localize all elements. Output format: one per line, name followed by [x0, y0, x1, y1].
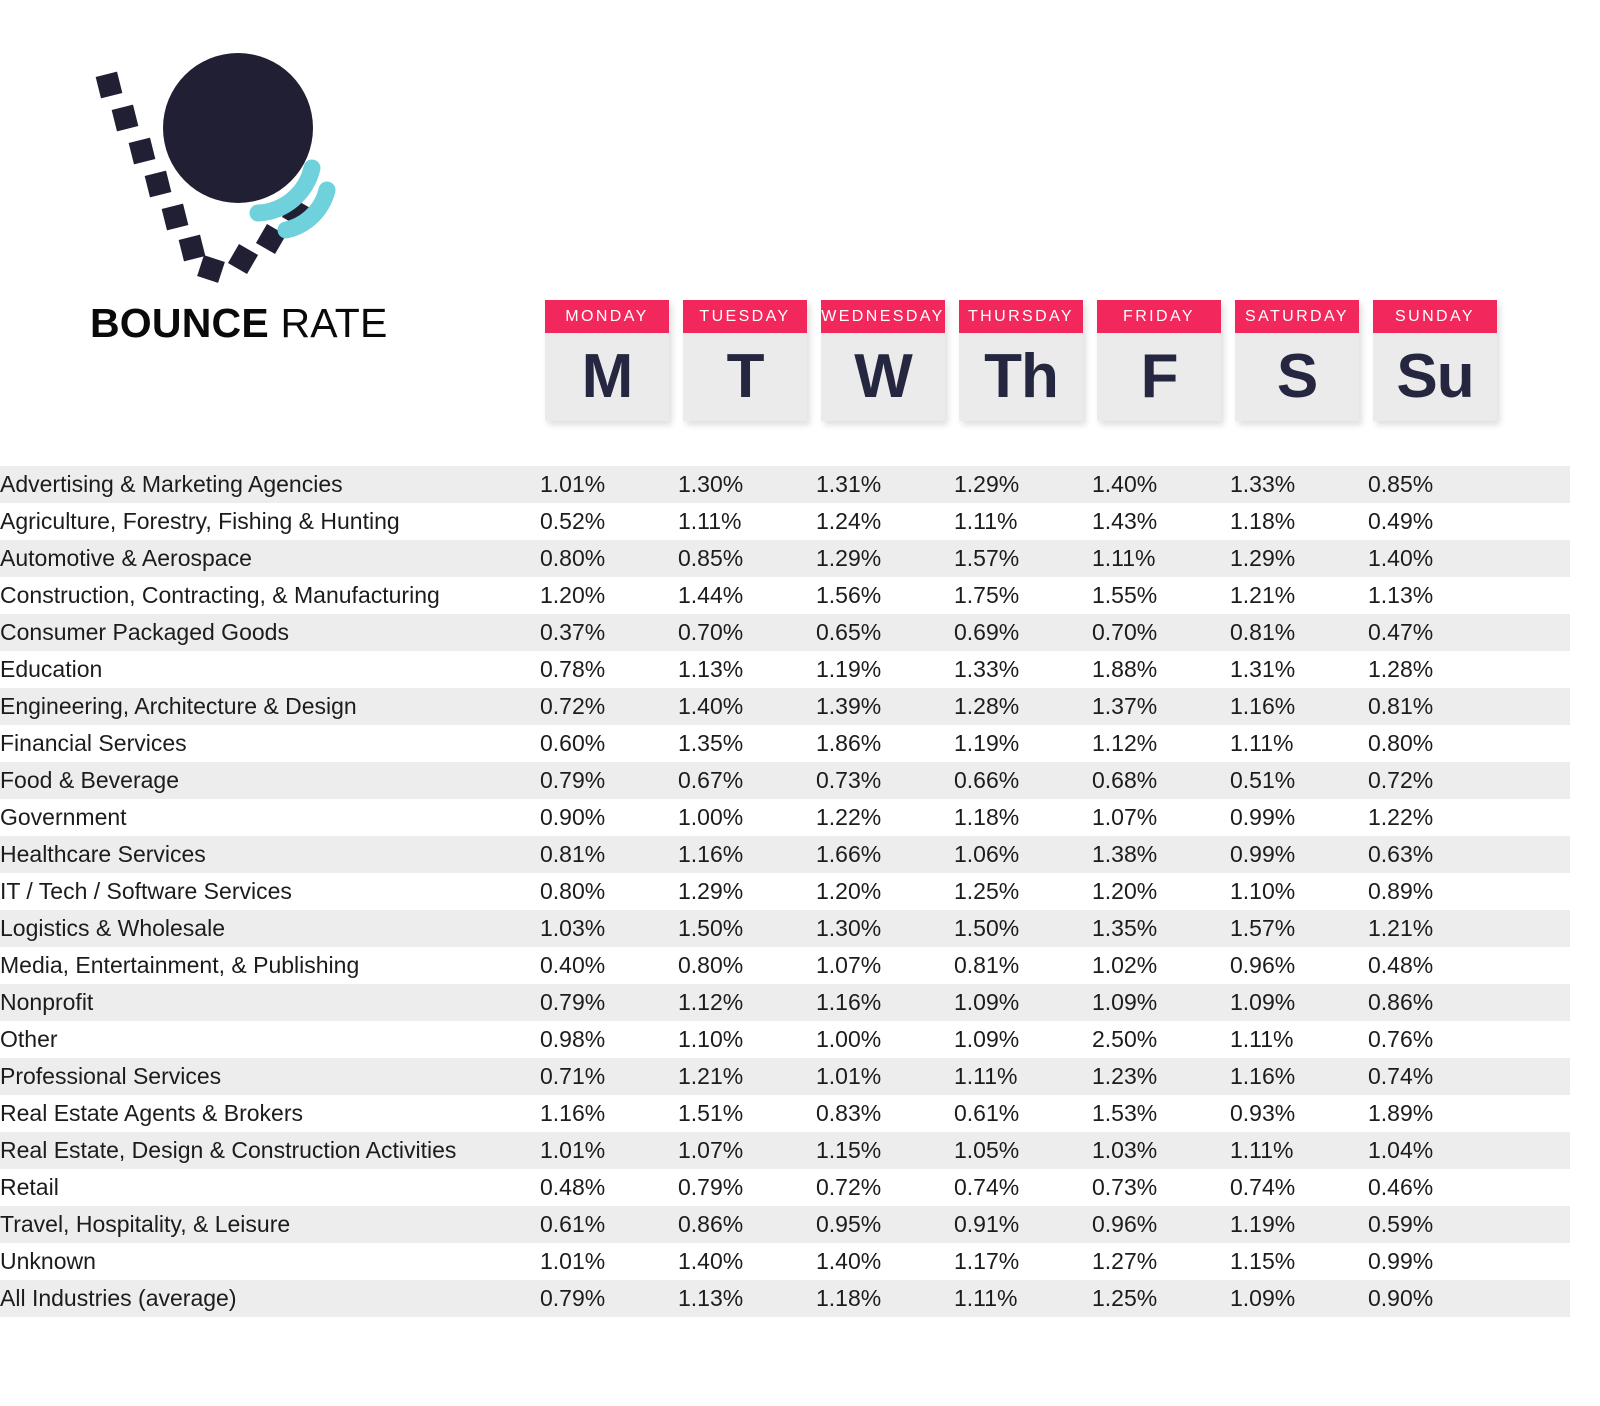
industry-label: Travel, Hospitality, & Leisure	[0, 1206, 540, 1243]
bounce-rate-value: 0.73%	[816, 762, 954, 799]
bounce-rate-value: 0.37%	[540, 614, 678, 651]
bounce-rate-value: 1.29%	[1230, 540, 1368, 577]
bounce-rate-value: 1.03%	[1092, 1132, 1230, 1169]
bounce-rate-value: 1.13%	[678, 1280, 816, 1317]
page-title: BOUNCE RATE	[90, 300, 510, 347]
table-row: Media, Entertainment, & Publishing0.40%0…	[0, 947, 1570, 984]
bounce-rate-value: 0.91%	[954, 1206, 1092, 1243]
industry-label: Engineering, Architecture & Design	[0, 688, 540, 725]
bounce-rate-value: 1.20%	[540, 577, 678, 614]
industry-label: Real Estate Agents & Brokers	[0, 1095, 540, 1132]
row-spacer	[1506, 1021, 1570, 1058]
bounce-rate-value: 0.99%	[1230, 799, 1368, 836]
bounce-rate-value: 1.28%	[1368, 651, 1506, 688]
day-card-short-label: T	[683, 333, 807, 421]
bounce-rate-value: 1.30%	[678, 466, 816, 503]
bounce-rate-value: 0.47%	[1368, 614, 1506, 651]
bounce-rate-value: 0.81%	[1368, 688, 1506, 725]
row-spacer	[1506, 947, 1570, 984]
bounce-rate-value: 0.71%	[540, 1058, 678, 1095]
bounce-rate-value: 1.50%	[954, 910, 1092, 947]
bounce-rate-value: 0.68%	[1092, 762, 1230, 799]
bounce-rate-value: 0.81%	[954, 947, 1092, 984]
bounce-rate-value: 0.95%	[816, 1206, 954, 1243]
bounce-rate-value: 1.11%	[1092, 540, 1230, 577]
bounce-rate-value: 1.21%	[678, 1058, 816, 1095]
bounce-rate-value: 0.83%	[816, 1095, 954, 1132]
bounce-rate-value: 1.03%	[540, 910, 678, 947]
bounce-rate-value: 1.25%	[1092, 1280, 1230, 1317]
day-card-full-label: SUNDAY	[1373, 300, 1497, 333]
bounce-rate-value: 1.13%	[678, 651, 816, 688]
bounce-rate-value: 1.22%	[1368, 799, 1506, 836]
bounce-rate-value: 0.85%	[1368, 466, 1506, 503]
day-card-full-label: MONDAY	[545, 300, 669, 333]
bounce-rate-value: 0.46%	[1368, 1169, 1506, 1206]
bounce-rate-value: 0.99%	[1230, 836, 1368, 873]
bounce-rate-value: 0.79%	[540, 984, 678, 1021]
bounce-rate-value: 1.40%	[678, 1243, 816, 1280]
bounce-rate-value: 1.12%	[678, 984, 816, 1021]
bounce-rate-value: 1.18%	[1230, 503, 1368, 540]
industry-label: Nonprofit	[0, 984, 540, 1021]
table-row: Education0.78%1.13%1.19%1.33%1.88%1.31%1…	[0, 651, 1570, 688]
row-spacer	[1506, 577, 1570, 614]
bounce-rate-value: 0.86%	[678, 1206, 816, 1243]
row-spacer	[1506, 503, 1570, 540]
industry-label: Food & Beverage	[0, 762, 540, 799]
bounce-rate-value: 0.48%	[1368, 947, 1506, 984]
industry-label: Unknown	[0, 1243, 540, 1280]
header-area: BOUNCE RATE MONDAYMTUESDAYTWEDNESDAYWTHU…	[0, 0, 1600, 450]
bounce-rate-value: 0.79%	[540, 1280, 678, 1317]
brand-title-regular: RATE	[280, 300, 387, 346]
bounce-rate-value: 1.31%	[1230, 651, 1368, 688]
bounce-rate-value: 1.29%	[954, 466, 1092, 503]
bounce-rate-value: 1.88%	[1092, 651, 1230, 688]
day-card-short-label: F	[1097, 333, 1221, 421]
bounce-rate-value: 1.11%	[1230, 1021, 1368, 1058]
bounce-rate-value: 0.79%	[540, 762, 678, 799]
industry-label: Media, Entertainment, & Publishing	[0, 947, 540, 984]
row-spacer	[1506, 540, 1570, 577]
bounce-rate-value: 1.09%	[954, 984, 1092, 1021]
row-spacer	[1506, 762, 1570, 799]
bounce-rate-value: 0.48%	[540, 1169, 678, 1206]
bounce-rate-value: 1.07%	[678, 1132, 816, 1169]
day-card-short-label: Su	[1373, 333, 1497, 421]
row-spacer	[1506, 1280, 1570, 1317]
day-card-sunday[interactable]: SUNDAYSu	[1373, 300, 1497, 421]
bounce-rate-value: 1.18%	[954, 799, 1092, 836]
bounce-rate-value: 1.17%	[954, 1243, 1092, 1280]
bounce-rate-value: 1.16%	[678, 836, 816, 873]
row-spacer	[1506, 651, 1570, 688]
bounce-rate-value: 0.60%	[540, 725, 678, 762]
day-card-thursday[interactable]: THURSDAYTh	[959, 300, 1083, 421]
bounce-rate-value: 0.80%	[540, 540, 678, 577]
day-header-cards: MONDAYMTUESDAYTWEDNESDAYWTHURSDAYThFRIDA…	[545, 300, 1497, 421]
bounce-rate-value: 1.19%	[816, 651, 954, 688]
bounce-rate-value: 1.40%	[816, 1243, 954, 1280]
row-spacer	[1506, 873, 1570, 910]
bounce-rate-value: 0.80%	[540, 873, 678, 910]
day-card-short-label: M	[545, 333, 669, 421]
bounce-rate-value: 1.07%	[1092, 799, 1230, 836]
row-spacer	[1506, 466, 1570, 503]
row-spacer	[1506, 799, 1570, 836]
bounce-rate-value: 0.72%	[816, 1169, 954, 1206]
bounce-rate-value: 1.16%	[1230, 688, 1368, 725]
bounce-rate-value: 1.51%	[678, 1095, 816, 1132]
bounce-rate-value: 1.66%	[816, 836, 954, 873]
industry-label: Retail	[0, 1169, 540, 1206]
bounce-rate-value: 0.72%	[540, 688, 678, 725]
bounce-rate-value: 1.29%	[816, 540, 954, 577]
bounce-rate-value: 0.86%	[1368, 984, 1506, 1021]
row-spacer	[1506, 1206, 1570, 1243]
bounce-rate-value: 0.59%	[1368, 1206, 1506, 1243]
bounce-rate-value: 1.55%	[1092, 577, 1230, 614]
bounce-rate-value: 1.31%	[816, 466, 954, 503]
bounce-rate-value: 1.75%	[954, 577, 1092, 614]
table-row: Retail0.48%0.79%0.72%0.74%0.73%0.74%0.46…	[0, 1169, 1570, 1206]
bounce-rate-value: 1.15%	[816, 1132, 954, 1169]
bounce-rate-value: 1.20%	[1092, 873, 1230, 910]
bounce-rate-value: 1.13%	[1368, 577, 1506, 614]
bounce-rate-value: 0.70%	[678, 614, 816, 651]
day-card-full-label: TUESDAY	[683, 300, 807, 333]
table-row: All Industries (average)0.79%1.13%1.18%1…	[0, 1280, 1570, 1317]
day-card-tuesday[interactable]: TUESDAYT	[683, 300, 807, 421]
bounce-rate-value: 0.98%	[540, 1021, 678, 1058]
bounce-rate-value: 1.25%	[954, 873, 1092, 910]
bounce-rate-value: 1.12%	[1092, 725, 1230, 762]
day-card-short-label: S	[1235, 333, 1359, 421]
table-body: Advertising & Marketing Agencies1.01%1.3…	[0, 466, 1570, 1317]
bounce-rate-value: 0.51%	[1230, 762, 1368, 799]
industry-label: Consumer Packaged Goods	[0, 614, 540, 651]
bounce-rate-value: 0.96%	[1092, 1206, 1230, 1243]
day-card-full-label: WEDNESDAY	[821, 300, 945, 333]
table-row: Government0.90%1.00%1.22%1.18%1.07%0.99%…	[0, 799, 1570, 836]
bounce-rate-value: 1.16%	[816, 984, 954, 1021]
bounce-rate-value: 1.11%	[954, 503, 1092, 540]
bounce-rate-value: 1.16%	[1230, 1058, 1368, 1095]
bounce-rate-value: 1.24%	[816, 503, 954, 540]
bounce-rate-value: 0.90%	[540, 799, 678, 836]
table-row: Food & Beverage0.79%0.67%0.73%0.66%0.68%…	[0, 762, 1570, 799]
table-row: Healthcare Services0.81%1.16%1.66%1.06%1…	[0, 836, 1570, 873]
bounce-rate-value: 0.61%	[954, 1095, 1092, 1132]
bounce-rate-value: 1.10%	[678, 1021, 816, 1058]
bounce-rate-value: 1.11%	[678, 503, 816, 540]
bounce-rate-value: 0.85%	[678, 540, 816, 577]
table-row: IT / Tech / Software Services0.80%1.29%1…	[0, 873, 1570, 910]
table-row: Real Estate, Design & Construction Activ…	[0, 1132, 1570, 1169]
day-card-short-label: W	[821, 333, 945, 421]
bounce-rate-value: 1.07%	[816, 947, 954, 984]
bounce-rate-value: 1.44%	[678, 577, 816, 614]
industry-label: Healthcare Services	[0, 836, 540, 873]
bounce-rate-value: 0.80%	[678, 947, 816, 984]
bounce-rate-value: 1.01%	[540, 466, 678, 503]
bounce-rate-value: 0.65%	[816, 614, 954, 651]
bounce-rate-value: 1.29%	[678, 873, 816, 910]
bounce-rate-value: 0.96%	[1230, 947, 1368, 984]
bounce-rate-value: 0.99%	[1368, 1243, 1506, 1280]
bounce-rate-value: 1.01%	[540, 1132, 678, 1169]
bounce-rate-value: 1.27%	[1092, 1243, 1230, 1280]
bounce-rate-value: 0.90%	[1368, 1280, 1506, 1317]
row-spacer	[1506, 1169, 1570, 1206]
industry-label: Government	[0, 799, 540, 836]
day-card-full-label: FRIDAY	[1097, 300, 1221, 333]
bounce-rate-value: 0.69%	[954, 614, 1092, 651]
bounce-rate-value: 1.40%	[1092, 466, 1230, 503]
industry-label: Financial Services	[0, 725, 540, 762]
bounce-rate-value: 0.72%	[1368, 762, 1506, 799]
bounce-rate-value: 1.09%	[1230, 984, 1368, 1021]
bounce-rate-value: 1.19%	[1230, 1206, 1368, 1243]
brand-title-bold: BOUNCE	[90, 300, 269, 346]
table-row: Automotive & Aerospace0.80%0.85%1.29%1.5…	[0, 540, 1570, 577]
bounce-rate-value: 1.33%	[1230, 466, 1368, 503]
day-card-friday[interactable]: FRIDAYF	[1097, 300, 1221, 421]
bounce-rate-value: 1.57%	[954, 540, 1092, 577]
bounce-rate-value: 0.74%	[1368, 1058, 1506, 1095]
bounce-rate-value: 1.30%	[816, 910, 954, 947]
bounce-rate-value: 0.74%	[1230, 1169, 1368, 1206]
bounce-rate-value: 0.63%	[1368, 836, 1506, 873]
row-spacer	[1506, 688, 1570, 725]
table-row: Construction, Contracting, & Manufacturi…	[0, 577, 1570, 614]
industry-label: Construction, Contracting, & Manufacturi…	[0, 577, 540, 614]
bounce-rate-value: 1.53%	[1092, 1095, 1230, 1132]
bounce-rate-value: 0.79%	[678, 1169, 816, 1206]
bounce-rate-value: 1.05%	[954, 1132, 1092, 1169]
bounce-rate-value: 1.43%	[1092, 503, 1230, 540]
bounce-rate-value: 1.20%	[816, 873, 954, 910]
table-row: Agriculture, Forestry, Fishing & Hunting…	[0, 503, 1570, 540]
bounce-rate-value: 0.78%	[540, 651, 678, 688]
bounce-rate-value: 1.04%	[1368, 1132, 1506, 1169]
table-row: Consumer Packaged Goods0.37%0.70%0.65%0.…	[0, 614, 1570, 651]
table-row: Nonprofit0.79%1.12%1.16%1.09%1.09%1.09%0…	[0, 984, 1570, 1021]
industry-label: Education	[0, 651, 540, 688]
industry-label: All Industries (average)	[0, 1280, 540, 1317]
row-spacer	[1506, 1095, 1570, 1132]
bounce-rate-value: 1.56%	[816, 577, 954, 614]
bounce-rate-value: 0.52%	[540, 503, 678, 540]
industry-label: IT / Tech / Software Services	[0, 873, 540, 910]
bounce-rate-value: 0.76%	[1368, 1021, 1506, 1058]
bounce-rate-value: 1.19%	[954, 725, 1092, 762]
industry-label: Professional Services	[0, 1058, 540, 1095]
bounce-rate-value: 0.89%	[1368, 873, 1506, 910]
bounce-rate-value: 1.02%	[1092, 947, 1230, 984]
bounce-rate-value: 0.81%	[1230, 614, 1368, 651]
bounce-rate-value: 1.28%	[954, 688, 1092, 725]
bounce-rate-value: 1.57%	[1230, 910, 1368, 947]
table-row: Financial Services0.60%1.35%1.86%1.19%1.…	[0, 725, 1570, 762]
bounce-rate-value: 0.40%	[540, 947, 678, 984]
industry-label: Real Estate, Design & Construction Activ…	[0, 1132, 540, 1169]
bounce-rate-value: 0.61%	[540, 1206, 678, 1243]
bounce-rate-value: 1.10%	[1230, 873, 1368, 910]
bounce-rate-value: 1.33%	[954, 651, 1092, 688]
bounce-rate-value: 1.00%	[816, 1021, 954, 1058]
day-card-wednesday[interactable]: WEDNESDAYW	[821, 300, 945, 421]
bounce-rate-value: 0.93%	[1230, 1095, 1368, 1132]
industry-label: Advertising & Marketing Agencies	[0, 466, 540, 503]
row-spacer	[1506, 1058, 1570, 1095]
row-spacer	[1506, 836, 1570, 873]
bounce-rate-value: 0.80%	[1368, 725, 1506, 762]
bounce-rate-value: 0.70%	[1092, 614, 1230, 651]
bounce-rate-value: 1.35%	[1092, 910, 1230, 947]
bounce-rate-value: 0.73%	[1092, 1169, 1230, 1206]
bounce-rate-value: 1.06%	[954, 836, 1092, 873]
bounce-rate-value: 1.01%	[540, 1243, 678, 1280]
bounce-rate-value: 1.21%	[1230, 577, 1368, 614]
row-spacer	[1506, 614, 1570, 651]
bounce-rate-value: 1.01%	[816, 1058, 954, 1095]
bounce-rate-value: 1.38%	[1092, 836, 1230, 873]
bounce-rate-value: 1.09%	[1230, 1280, 1368, 1317]
bounce-rate-value: 1.11%	[1230, 1132, 1368, 1169]
row-spacer	[1506, 725, 1570, 762]
bounce-rate-value: 1.18%	[816, 1280, 954, 1317]
row-spacer	[1506, 984, 1570, 1021]
row-spacer	[1506, 910, 1570, 947]
day-card-full-label: THURSDAY	[959, 300, 1083, 333]
day-card-full-label: SATURDAY	[1235, 300, 1359, 333]
bounce-rate-value: 0.49%	[1368, 503, 1506, 540]
bounce-rate-value: 1.37%	[1092, 688, 1230, 725]
bounce-rate-value: 0.67%	[678, 762, 816, 799]
table-row: Advertising & Marketing Agencies1.01%1.3…	[0, 466, 1570, 503]
bounce-rate-value: 1.40%	[1368, 540, 1506, 577]
bounce-rate-value: 1.11%	[1230, 725, 1368, 762]
bounce-rate-value: 1.89%	[1368, 1095, 1506, 1132]
table-row: Real Estate Agents & Brokers1.16%1.51%0.…	[0, 1095, 1570, 1132]
bounce-rate-value: 1.09%	[1092, 984, 1230, 1021]
table-row: Professional Services0.71%1.21%1.01%1.11…	[0, 1058, 1570, 1095]
bounce-rate-value: 1.16%	[540, 1095, 678, 1132]
day-card-short-label: Th	[959, 333, 1083, 421]
table-row: Unknown1.01%1.40%1.40%1.17%1.27%1.15%0.9…	[0, 1243, 1570, 1280]
bounce-rate-value: 2.50%	[1092, 1021, 1230, 1058]
bounce-rate-value: 1.00%	[678, 799, 816, 836]
bounce-rate-value: 0.66%	[954, 762, 1092, 799]
bounce-rate-value: 0.81%	[540, 836, 678, 873]
bounce-rate-value: 1.50%	[678, 910, 816, 947]
table-row: Engineering, Architecture & Design0.72%1…	[0, 688, 1570, 725]
table-row: Other0.98%1.10%1.00%1.09%2.50%1.11%0.76%	[0, 1021, 1570, 1058]
industry-label: Logistics & Wholesale	[0, 910, 540, 947]
bounce-rate-value: 1.86%	[816, 725, 954, 762]
bounce-rate-value: 1.09%	[954, 1021, 1092, 1058]
industry-label: Other	[0, 1021, 540, 1058]
row-spacer	[1506, 1243, 1570, 1280]
bounce-rate-value: 1.11%	[954, 1280, 1092, 1317]
logo-ball	[163, 53, 313, 203]
bounce-rate-logo	[90, 50, 390, 290]
bounce-rate-table: Advertising & Marketing Agencies1.01%1.3…	[0, 466, 1570, 1317]
bounce-rate-value: 1.40%	[678, 688, 816, 725]
table-row: Logistics & Wholesale1.03%1.50%1.30%1.50…	[0, 910, 1570, 947]
bounce-rate-value: 0.74%	[954, 1169, 1092, 1206]
brand-block: BOUNCE RATE	[90, 50, 510, 347]
row-spacer	[1506, 1132, 1570, 1169]
bounce-rate-value: 1.39%	[816, 688, 954, 725]
industry-label: Agriculture, Forestry, Fishing & Hunting	[0, 503, 540, 540]
bounce-rate-value: 1.11%	[954, 1058, 1092, 1095]
bounce-rate-value: 1.35%	[678, 725, 816, 762]
table-row: Travel, Hospitality, & Leisure0.61%0.86%…	[0, 1206, 1570, 1243]
industry-label: Automotive & Aerospace	[0, 540, 540, 577]
day-card-saturday[interactable]: SATURDAYS	[1235, 300, 1359, 421]
bounce-rate-value: 1.23%	[1092, 1058, 1230, 1095]
bounce-rate-value: 1.15%	[1230, 1243, 1368, 1280]
bounce-rate-value: 1.21%	[1368, 910, 1506, 947]
bounce-rate-value: 1.22%	[816, 799, 954, 836]
day-card-monday[interactable]: MONDAYM	[545, 300, 669, 421]
